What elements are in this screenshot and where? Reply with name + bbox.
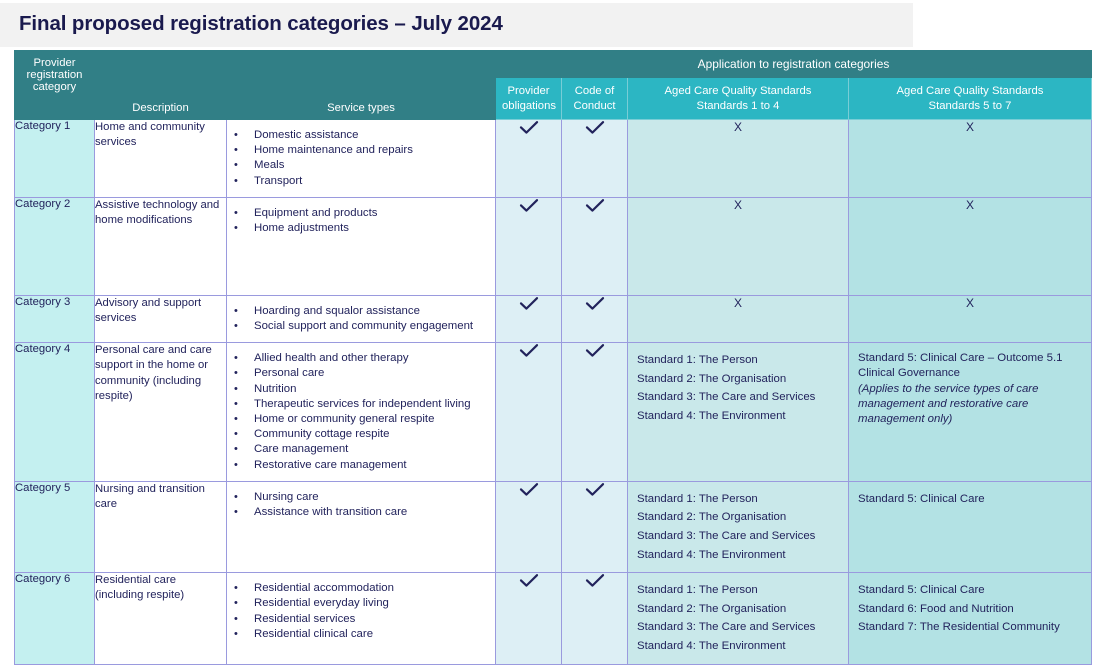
cell-code-of-conduct bbox=[562, 197, 628, 295]
service-type-item: •Therapeutic services for independent li… bbox=[227, 397, 489, 412]
service-type-item: •Restorative care management bbox=[227, 458, 489, 473]
standard-line: Standard 7: The Residential Community bbox=[858, 618, 1083, 637]
registration-categories-table: Provider registration category Descripti… bbox=[14, 50, 1092, 665]
cell-category: Category 4 bbox=[15, 343, 95, 482]
service-type-item: •Nutrition bbox=[227, 382, 489, 397]
service-type-item: •Home maintenance and repairs bbox=[227, 143, 489, 158]
cell-description: Assistive technology and home modificati… bbox=[95, 197, 227, 295]
col-header-application-group: Application to registration categories bbox=[496, 51, 1092, 78]
table-row: Category 1Home and community services•Do… bbox=[15, 120, 1092, 198]
cell-provider-obligations bbox=[496, 481, 562, 572]
page-title: Final proposed registration categories –… bbox=[19, 12, 503, 36]
cell-code-of-conduct bbox=[562, 120, 628, 198]
table-row: Category 4Personal care and care support… bbox=[15, 343, 1092, 482]
cell-service-types: •Domestic assistance•Home maintenance an… bbox=[227, 120, 496, 198]
cell-provider-obligations bbox=[496, 120, 562, 198]
table-body: Category 1Home and community services•Do… bbox=[15, 120, 1092, 665]
check-mark-icon bbox=[518, 296, 540, 312]
table-row: Category 5Nursing and transition care•Nu… bbox=[15, 481, 1092, 572]
cell-category: Category 5 bbox=[15, 481, 95, 572]
cell-description: Personal care and care support in the ho… bbox=[95, 343, 227, 482]
cell-service-types: •Hoarding and squalor assistance•Social … bbox=[227, 295, 496, 342]
table-row: Category 3Advisory and support services•… bbox=[15, 295, 1092, 342]
table-row: Category 2Assistive technology and home … bbox=[15, 197, 1092, 295]
standards-note: (Applies to the service types of care ma… bbox=[858, 382, 1083, 428]
standard-line: Standard 3: The Care and Services bbox=[637, 388, 840, 407]
standard-line: Standard 4: The Environment bbox=[637, 407, 840, 426]
cell-standards-5-to-7: Standard 5: Clinical CareStandard 6: Foo… bbox=[849, 573, 1092, 664]
service-type-item: •Meals bbox=[227, 158, 489, 173]
check-mark-icon bbox=[584, 198, 606, 214]
standards-5to7-line1: Aged Care Quality Standards bbox=[897, 85, 1044, 97]
cell-category: Category 1 bbox=[15, 120, 95, 198]
cell-provider-obligations bbox=[496, 343, 562, 482]
cell-service-types: •Allied health and other therapy•Persona… bbox=[227, 343, 496, 482]
cross-mark-icon: X bbox=[966, 120, 974, 134]
cell-category: Category 6 bbox=[15, 573, 95, 664]
check-mark-icon bbox=[584, 296, 606, 312]
standards-1to4-line2: Standards 1 to 4 bbox=[697, 100, 780, 112]
cross-mark-icon: X bbox=[966, 198, 974, 212]
cell-provider-obligations bbox=[496, 295, 562, 342]
cell-code-of-conduct bbox=[562, 343, 628, 482]
cell-code-of-conduct bbox=[562, 295, 628, 342]
bullet-icon: • bbox=[234, 366, 238, 381]
standard-line: Standard 5: Clinical Care bbox=[858, 490, 1083, 509]
cell-category: Category 2 bbox=[15, 197, 95, 295]
service-type-item: •Social support and community engagement bbox=[227, 319, 489, 334]
cross-mark-icon: X bbox=[734, 120, 742, 134]
bullet-icon: • bbox=[234, 206, 238, 221]
standard-line: Standard 4: The Environment bbox=[637, 637, 840, 656]
bullet-icon: • bbox=[234, 505, 238, 520]
cell-standards-5-to-7: Standard 5: Clinical Care – Outcome 5.1 … bbox=[849, 343, 1092, 482]
col-header-provider-registration-category: Provider registration category bbox=[15, 51, 95, 120]
check-mark-icon bbox=[584, 482, 606, 498]
service-type-item: •Equipment and products bbox=[227, 206, 489, 221]
cell-standards-5-to-7: X bbox=[849, 295, 1092, 342]
col-header-code-of-conduct: Code of Conduct bbox=[562, 78, 628, 120]
check-mark-icon bbox=[518, 120, 540, 136]
service-type-item: •Personal care bbox=[227, 366, 489, 381]
check-mark-icon bbox=[518, 482, 540, 498]
cell-code-of-conduct bbox=[562, 573, 628, 664]
header-row-group: Provider registration category Descripti… bbox=[15, 51, 1092, 78]
cell-description: Advisory and support services bbox=[95, 295, 227, 342]
bullet-icon: • bbox=[234, 612, 238, 627]
standard-line: Standard 4: The Environment bbox=[637, 546, 840, 565]
cell-service-types: •Residential accommodation•Residential e… bbox=[227, 573, 496, 664]
bullet-icon: • bbox=[234, 458, 238, 473]
standards-5to7-line2: Standards 5 to 7 bbox=[929, 100, 1012, 112]
standard-line: Standard 5: Clinical Care bbox=[858, 581, 1083, 600]
standard-line: Standard 1: The Person bbox=[637, 351, 840, 370]
bullet-icon: • bbox=[234, 221, 238, 236]
bullet-icon: • bbox=[234, 158, 238, 173]
service-type-item: •Domestic assistance bbox=[227, 128, 489, 143]
cell-description: Home and community services bbox=[95, 120, 227, 198]
table-row: Category 6Residential care (including re… bbox=[15, 573, 1092, 664]
service-type-item: •Nursing care bbox=[227, 490, 489, 505]
standard-line: Standard 6: Food and Nutrition bbox=[858, 600, 1083, 619]
standard-line: Standard 2: The Organisation bbox=[637, 508, 840, 527]
bullet-icon: • bbox=[234, 397, 238, 412]
standard-line: Standard 3: The Care and Services bbox=[637, 527, 840, 546]
standard-line: Standard 5: Clinical Care – Outcome 5.1 … bbox=[858, 351, 1083, 381]
standard-line: Standard 1: The Person bbox=[637, 490, 840, 509]
cell-standards-5-to-7: X bbox=[849, 197, 1092, 295]
standard-line: Standard 3: The Care and Services bbox=[637, 618, 840, 637]
bullet-icon: • bbox=[234, 596, 238, 611]
cell-service-types: •Equipment and products•Home adjustments bbox=[227, 197, 496, 295]
col-header-standards-1-to-4: Aged Care Quality Standards Standards 1 … bbox=[628, 78, 849, 120]
cell-standards-1-to-4: X bbox=[628, 197, 849, 295]
check-mark-icon bbox=[518, 198, 540, 214]
cell-standards-1-to-4: Standard 1: The PersonStandard 2: The Or… bbox=[628, 573, 849, 664]
code-of-conduct-line1: Code of bbox=[575, 85, 615, 97]
standard-line: Standard 2: The Organisation bbox=[637, 370, 840, 389]
check-mark-icon bbox=[518, 343, 540, 359]
service-type-item: •Home or community general respite bbox=[227, 412, 489, 427]
cross-mark-icon: X bbox=[734, 296, 742, 310]
cell-standards-5-to-7: Standard 5: Clinical Care bbox=[849, 481, 1092, 572]
bullet-icon: • bbox=[234, 304, 238, 319]
check-mark-icon bbox=[584, 573, 606, 589]
service-type-item: •Residential clinical care bbox=[227, 627, 489, 642]
cell-service-types: •Nursing care•Assistance with transition… bbox=[227, 481, 496, 572]
check-mark-icon bbox=[584, 343, 606, 359]
cross-mark-icon: X bbox=[734, 198, 742, 212]
bullet-icon: • bbox=[234, 442, 238, 457]
col-header-description: Description bbox=[95, 51, 227, 120]
standard-line: Standard 2: The Organisation bbox=[637, 600, 840, 619]
provider-obligations-line1: Provider bbox=[507, 85, 549, 97]
cell-standards-5-to-7: X bbox=[849, 120, 1092, 198]
service-type-item: •Care management bbox=[227, 442, 489, 457]
bullet-icon: • bbox=[234, 490, 238, 505]
bullet-icon: • bbox=[234, 128, 238, 143]
provider-obligations-line2: obligations bbox=[502, 100, 556, 112]
bullet-icon: • bbox=[234, 351, 238, 366]
bullet-icon: • bbox=[234, 412, 238, 427]
standard-line: Standard 1: The Person bbox=[637, 581, 840, 600]
cell-description: Nursing and transition care bbox=[95, 481, 227, 572]
col-header-service-types: Service types bbox=[227, 51, 496, 120]
cell-code-of-conduct bbox=[562, 481, 628, 572]
page-root: Final proposed registration categories –… bbox=[0, 0, 1105, 639]
service-type-item: •Assistance with transition care bbox=[227, 505, 489, 520]
cell-standards-1-to-4: X bbox=[628, 120, 849, 198]
table-head: Provider registration category Descripti… bbox=[15, 51, 1092, 120]
service-type-item: •Transport bbox=[227, 174, 489, 189]
check-mark-icon bbox=[584, 120, 606, 136]
col-header-provider-obligations: Provider obligations bbox=[496, 78, 562, 120]
service-type-item: •Allied health and other therapy bbox=[227, 351, 489, 366]
cell-category: Category 3 bbox=[15, 295, 95, 342]
code-of-conduct-line2: Conduct bbox=[573, 100, 615, 112]
bullet-icon: • bbox=[234, 174, 238, 189]
cell-standards-1-to-4: Standard 1: The PersonStandard 2: The Or… bbox=[628, 343, 849, 482]
service-type-item: •Residential services bbox=[227, 612, 489, 627]
service-type-item: •Residential accommodation bbox=[227, 581, 489, 596]
bullet-icon: • bbox=[234, 627, 238, 642]
col-header-standards-5-to-7: Aged Care Quality Standards Standards 5 … bbox=[849, 78, 1092, 120]
service-type-item: •Community cottage respite bbox=[227, 427, 489, 442]
bullet-icon: • bbox=[234, 143, 238, 158]
standards-1to4-line1: Aged Care Quality Standards bbox=[665, 85, 812, 97]
bullet-icon: • bbox=[234, 382, 238, 397]
service-type-item: •Residential everyday living bbox=[227, 596, 489, 611]
check-mark-icon bbox=[518, 573, 540, 589]
cell-standards-1-to-4: X bbox=[628, 295, 849, 342]
cell-provider-obligations bbox=[496, 573, 562, 664]
bullet-icon: • bbox=[234, 319, 238, 334]
cell-description: Residential care (including respite) bbox=[95, 573, 227, 664]
bullet-icon: • bbox=[234, 581, 238, 596]
cross-mark-icon: X bbox=[966, 296, 974, 310]
cell-standards-1-to-4: Standard 1: The PersonStandard 2: The Or… bbox=[628, 481, 849, 572]
service-type-item: •Hoarding and squalor assistance bbox=[227, 304, 489, 319]
bullet-icon: • bbox=[234, 427, 238, 442]
service-type-item: •Home adjustments bbox=[227, 221, 489, 236]
cell-provider-obligations bbox=[496, 197, 562, 295]
